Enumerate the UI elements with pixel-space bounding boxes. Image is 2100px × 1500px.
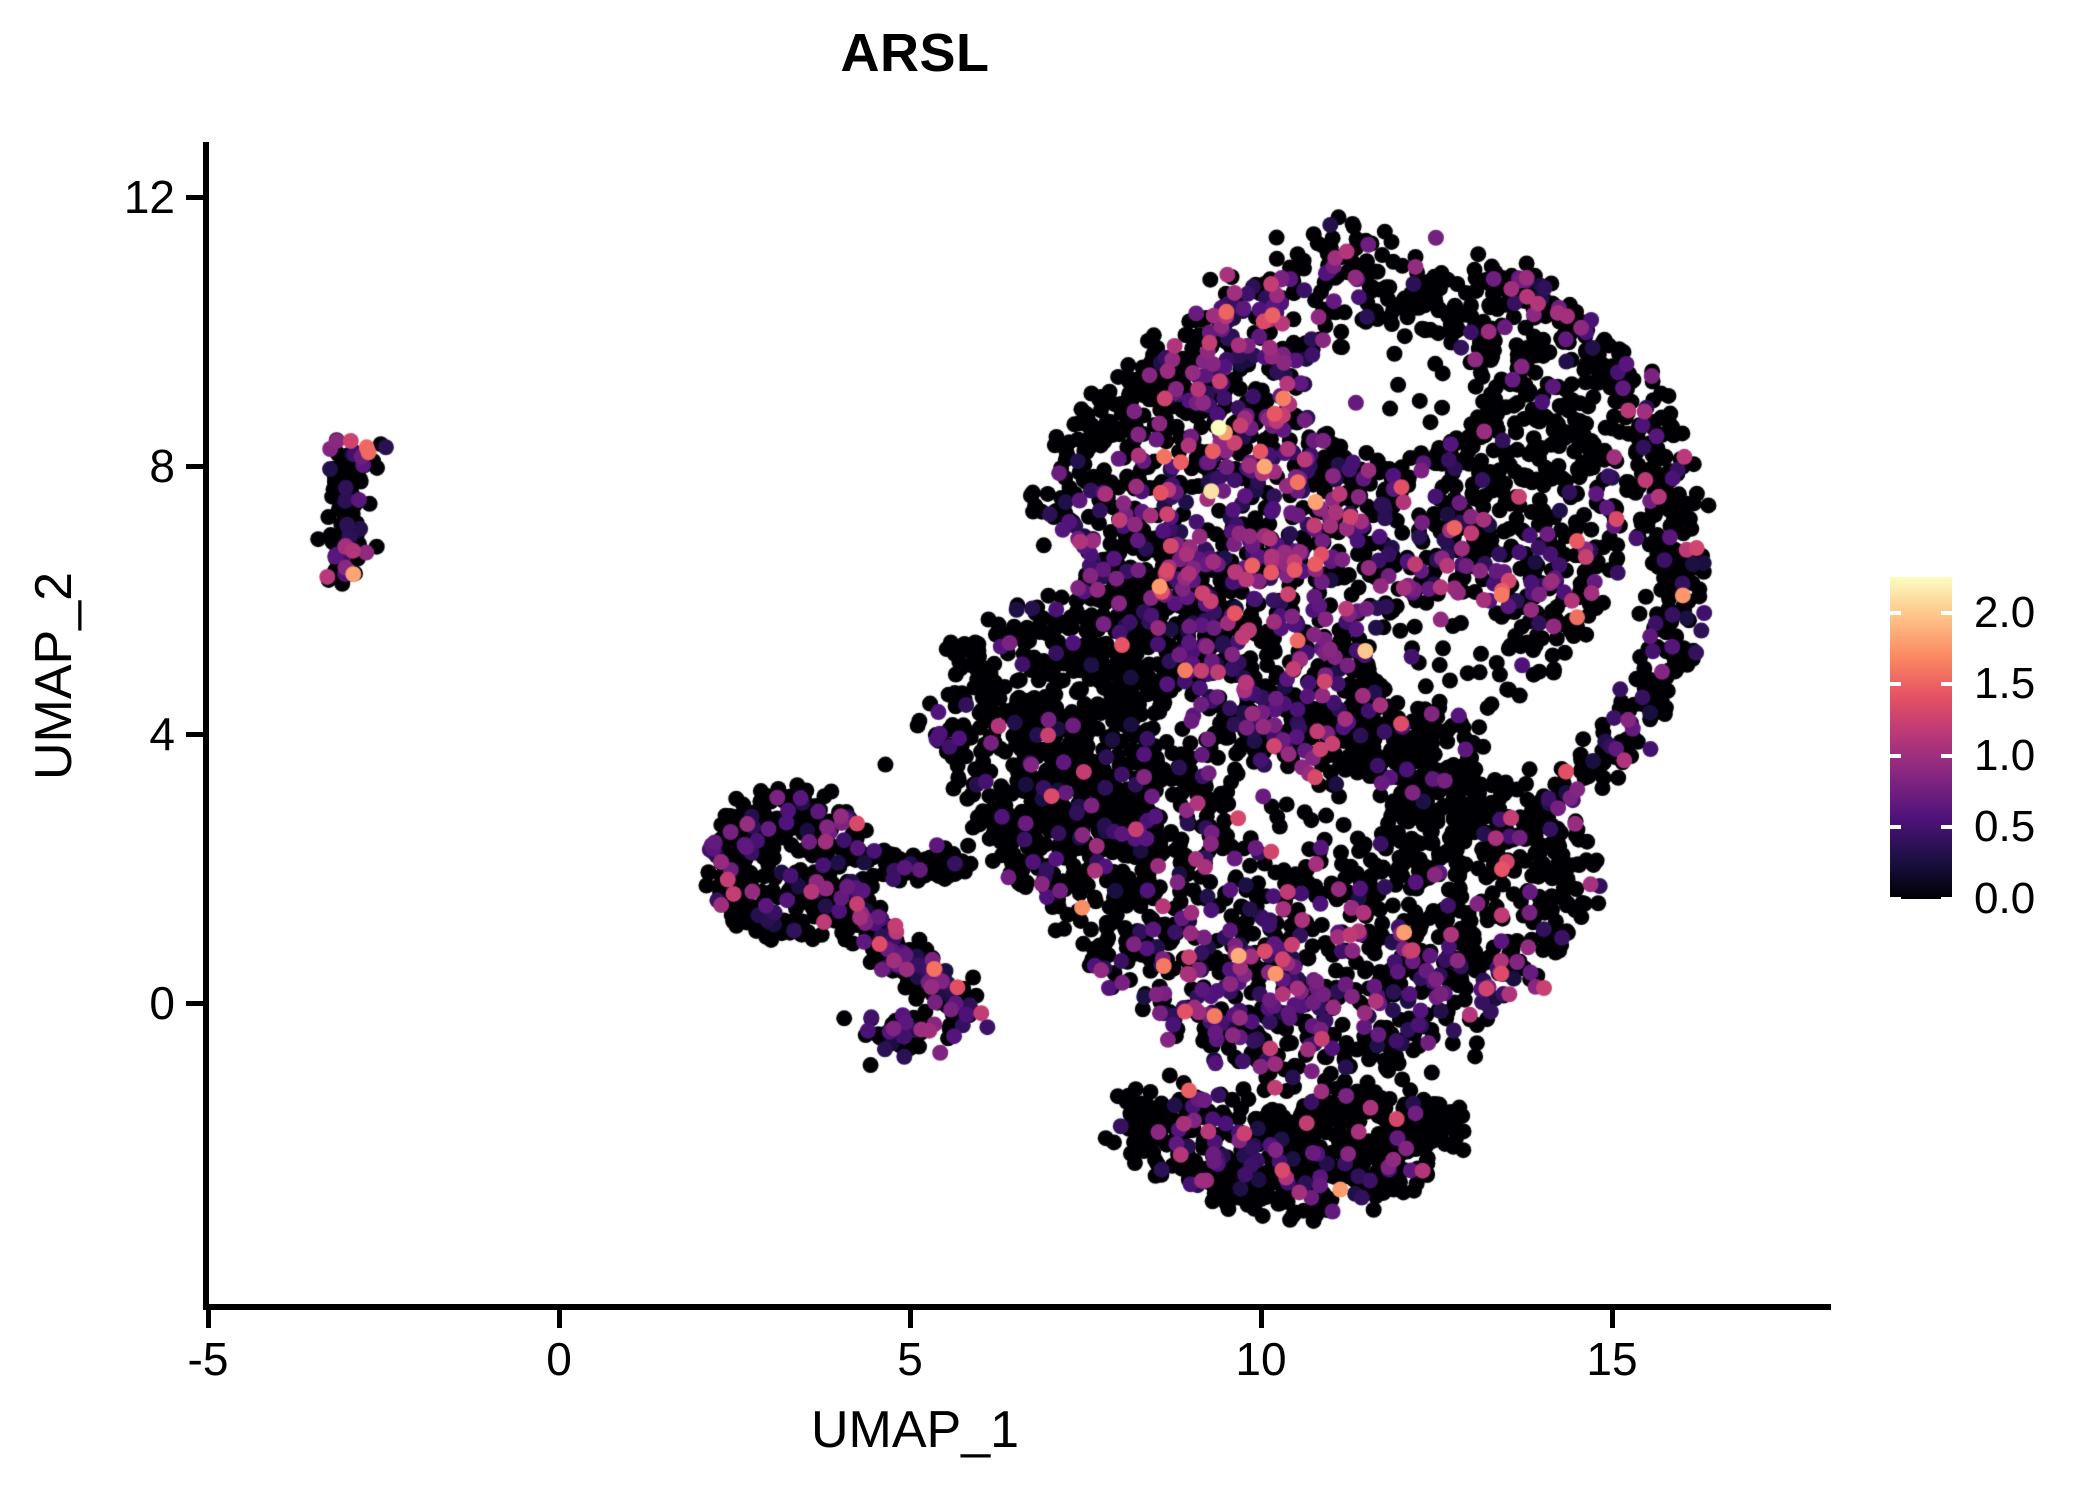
x-axis-line: [203, 1304, 1831, 1310]
plot-panel: [208, 142, 1830, 1305]
x-tick-label: -5: [188, 1336, 229, 1382]
colorbar-tick-mark: [1941, 897, 1952, 901]
y-axis-line: [203, 142, 209, 1310]
y-tick-label: 0: [149, 980, 175, 1026]
colorbar-tick-mark: [1941, 611, 1952, 615]
colorbar-tick-mark: [1890, 897, 1901, 901]
colorbar-gradient: [1890, 577, 1952, 899]
colorbar-tick-label: 0.5: [1974, 805, 2035, 849]
scatter-points-layer: [208, 142, 1830, 1305]
y-tick-label: 12: [124, 174, 175, 220]
x-tick-mark: [206, 1310, 211, 1328]
colorbar-tick-mark: [1941, 825, 1952, 829]
colorbar-tick-mark: [1941, 682, 1952, 686]
y-tick-mark: [186, 1001, 204, 1006]
y-tick-mark: [186, 732, 204, 737]
colorbar-tick-mark: [1890, 825, 1901, 829]
x-tick-label: 15: [1586, 1336, 1637, 1382]
x-tick-label: 5: [897, 1336, 923, 1382]
y-tick-label: 4: [149, 711, 175, 757]
colorbar-tick-mark: [1890, 682, 1901, 686]
color-legend: 2.01.51.00.50.0: [1890, 577, 2080, 899]
x-tick-label: 10: [1235, 1336, 1286, 1382]
feature-plot-figure: ARSL 12840 -5051015 UMAP_1 UMAP_2 2.01.5…: [0, 0, 2100, 1500]
page-title: ARSL: [0, 22, 1830, 84]
colorbar-tick-label: 0.0: [1974, 877, 2035, 921]
x-axis-title: UMAP_1: [0, 1400, 1830, 1460]
x-tick-mark: [908, 1310, 913, 1328]
x-tick-mark: [557, 1310, 562, 1328]
colorbar-tick-mark: [1890, 611, 1901, 615]
x-tick-label: 0: [546, 1336, 572, 1382]
x-tick-mark: [1259, 1310, 1264, 1328]
y-tick-label: 8: [149, 443, 175, 489]
colorbar-tick-mark: [1941, 754, 1952, 758]
colorbar-tick-label: 2.0: [1974, 591, 2035, 635]
colorbar-tick-mark: [1890, 754, 1901, 758]
y-axis-title: UMAP_2: [24, 276, 84, 1076]
colorbar-tick-label: 1.0: [1974, 734, 2035, 778]
y-tick-mark: [186, 464, 204, 469]
y-tick-mark: [186, 195, 204, 200]
colorbar-tick-label: 1.5: [1974, 662, 2035, 706]
x-tick-mark: [1610, 1310, 1615, 1328]
